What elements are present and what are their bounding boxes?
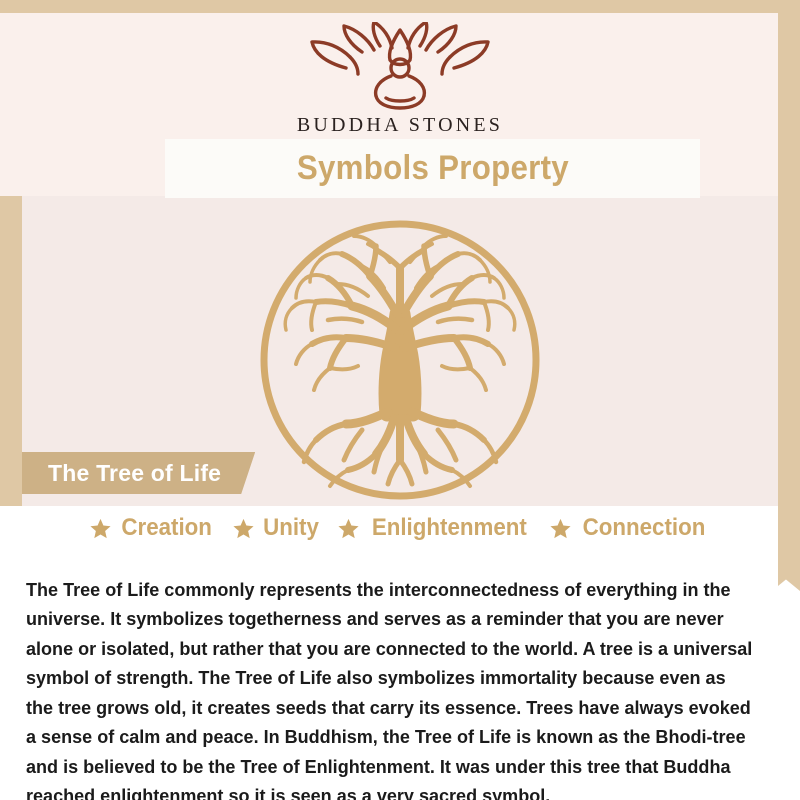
brand-wordmark: BUDDHA STONES (0, 114, 800, 137)
lotus-meditation-figure-icon (300, 22, 500, 110)
star-icon (90, 518, 111, 539)
page-title: Symbols Property (296, 149, 568, 188)
keyword-item: Creation (90, 514, 215, 542)
star-icon (233, 518, 254, 539)
keyword-label: Creation (122, 514, 213, 542)
symbols-property-infographic: BUDDHA STONES Symbols Property (0, 0, 800, 800)
page-title-band: Symbols Property (165, 139, 700, 198)
tree-of-life-graphic (258, 218, 542, 502)
description-paragraph: The Tree of Life commonly represents the… (26, 575, 755, 800)
top-border-band (0, 0, 800, 13)
left-border-band (0, 196, 22, 506)
keyword-label: Connection (582, 514, 705, 542)
star-icon (338, 518, 359, 539)
keyword-label: Enlightenment (372, 514, 527, 542)
keyword-list: Creation Unity Enlightenment Connection (0, 514, 800, 542)
keyword-item: Connection (550, 514, 710, 542)
brand-logo: BUDDHA STONES (0, 22, 800, 137)
symbol-label-banner: The Tree of Life (22, 452, 255, 494)
keyword-label: Unity (263, 514, 319, 542)
keyword-item: Enlightenment (338, 514, 533, 542)
star-icon (550, 518, 571, 539)
keyword-item: Unity (233, 514, 321, 542)
tree-of-life-circle-icon (258, 218, 542, 502)
symbol-label: The Tree of Life (48, 460, 221, 487)
